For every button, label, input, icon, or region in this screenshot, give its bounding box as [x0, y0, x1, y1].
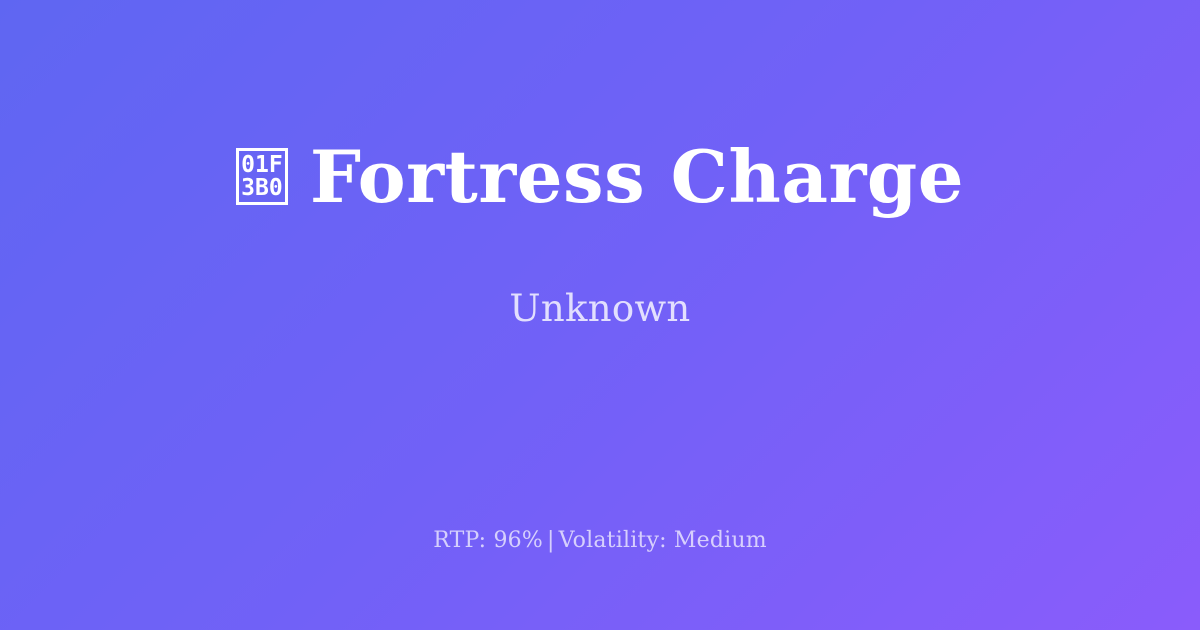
- rtp-label: RTP: 96%: [433, 528, 543, 553]
- slot-machine-icon-codepoint-low: 3B0: [241, 177, 283, 200]
- volatility-label: Volatility: Medium: [559, 528, 767, 553]
- headline: 01F 3B0 Fortress Charge: [236, 139, 964, 215]
- game-provider: Unknown: [509, 287, 690, 331]
- game-meta: RTP: 96%|Volatility: Medium: [0, 528, 1200, 554]
- game-preview-card: 01F 3B0 Fortress Charge Unknown RTP: 96%…: [0, 0, 1200, 630]
- slot-machine-icon-codepoint-high: 01F: [241, 154, 283, 177]
- game-title: Fortress Charge: [310, 139, 964, 215]
- hero-block: 01F 3B0 Fortress Charge Unknown: [0, 0, 1200, 470]
- slot-machine-icon: 01F 3B0: [236, 148, 288, 205]
- meta-separator: |: [543, 528, 559, 553]
